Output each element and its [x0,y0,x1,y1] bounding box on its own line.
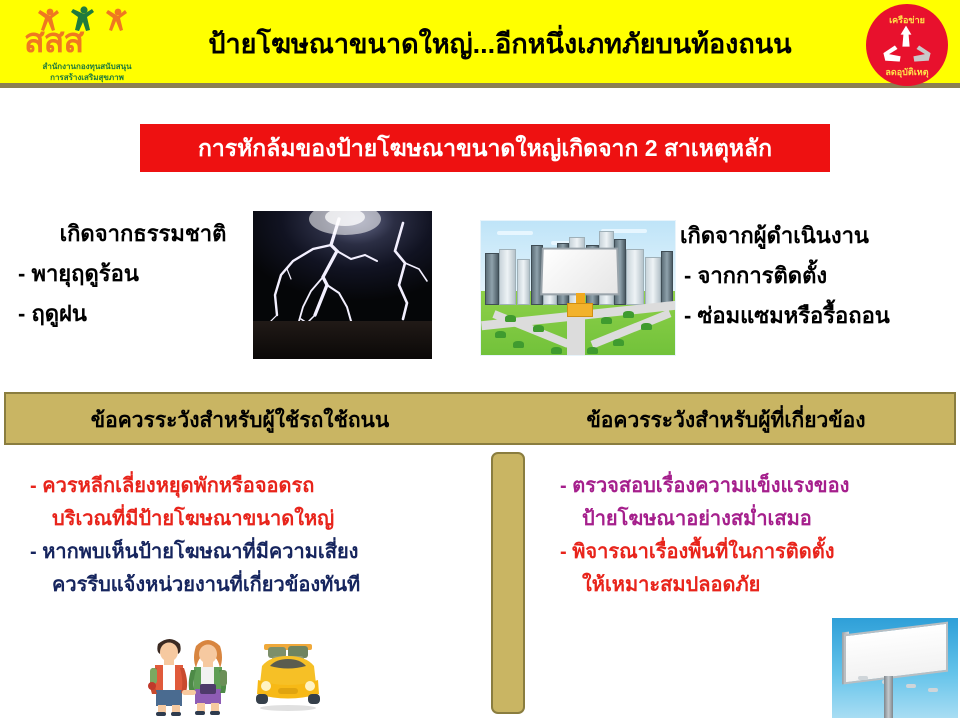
badge-bottom-label: ลดอุบัติเหตุ [868,65,946,79]
bush-shape [505,315,516,322]
lightning-storm-photo [253,211,432,359]
building-shape [626,249,644,305]
building-shape [645,257,661,305]
natural-cause-block: เกิดจากธรรมชาติ - พายุฤดูร้อน - ฤดูฝน [16,214,256,334]
billboard-lamp-icon [928,688,938,692]
advice-line: - พิจารณาเรื่องพื้นที่ในการติดตั้ง [560,536,945,569]
operator-cause-block: เกิดจากผู้ดำเนินงาน - จากการติดตั้ง - ซ่… [676,216,948,336]
natural-cause-item-2: - ฤดูฝน [16,294,256,334]
main-cause-banner-text: การหักล้มของป้ายโฆษณาขนาดใหญ่เกิดจาก 2 ส… [140,124,830,172]
bush-shape [613,339,624,346]
bush-shape [533,325,544,332]
logo-subtitle-line2: การสร้างเสริมสุขภาพ [26,73,148,83]
billboard-lamp-icon [906,684,916,688]
header-bar: สสส สำนักงานกองทุนสนับสนุน การสร้างเสริม… [0,0,960,88]
billboard-base [567,303,593,317]
advice-header-stakeholders: ข้อควรระวังสำหรับผู้ที่เกี่ยวข้อง [506,394,946,447]
natural-cause-item-1: - พายุฤดูร้อน [16,254,256,294]
billboard-lamp-icon [858,676,868,680]
logo-subtitle-line1: สำนักงานกองทุนสนับสนุน [26,62,148,72]
natural-cause-heading: เกิดจากธรรมชาติ [16,214,256,254]
lightning-horizon [253,321,432,359]
advice-column-stakeholders: - ตรวจสอบเรื่องความแข็งแรงของ ป้ายโฆษณาอ… [560,470,945,602]
advice-header-bar: ข้อควรระวังสำหรับผู้ใช้รถใช้ถนน ข้อควรระ… [4,392,956,445]
operator-cause-heading: เกิดจากผู้ดำเนินงาน [676,216,948,256]
page-title: ป้ายโฆษณาขนาดใหญ่...อีกหนึ่งเภทภัยบนท้อง… [155,16,845,72]
bush-shape [641,323,652,330]
bush-shape [587,347,598,354]
bush-shape [623,311,634,318]
bush-shape [601,317,612,324]
city-billboard-illustration [480,220,676,356]
operator-cause-item-2: - ซ่อมแซมหรือรื้อถอน [676,296,948,336]
advice-line: - หากพบเห็นป้ายโฆษณาที่มีความเสี่ยง [30,536,480,569]
yellow-car-with-luggage-icon [248,640,328,712]
slide-root: สสส สำนักงานกองทุนสนับสนุน การสร้างเสริม… [0,0,960,720]
billboard-white-face [844,622,948,685]
thaihealth-logo: สสส สำนักงานกองทุนสนับสนุน การสร้างเสริม… [18,4,148,86]
building-shape [661,251,673,305]
blank-billboard-photo [832,618,958,718]
billboard-face [540,248,620,296]
bush-shape [513,341,524,348]
advice-line: ป้ายโฆษณาอย่างสม่ำเสมอ [560,503,945,536]
cloud-shape [497,231,533,235]
bush-shape [551,347,562,354]
advice-column-road-users: - ควรหลีกเลี่ยงหยุดพักหรือจอดรถ บริเวณที… [30,470,480,602]
travellers-couple-icon [128,630,248,716]
operator-cause-item-1: - จากการติดตั้ง [676,256,948,296]
advice-line: - ควรหลีกเลี่ยงหยุดพักหรือจอดรถ [30,470,480,503]
bush-shape [495,331,506,338]
building-shape [499,249,516,305]
billboard-support-post [884,676,893,718]
advice-line: ควรรีบแจ้งหน่วยงานที่เกี่ยวข้องทันที [30,569,480,602]
vertical-divider [491,452,525,714]
logo-mark-text: สสส [24,24,144,58]
main-cause-banner: การหักล้มของป้ายโฆษณาขนาดใหญ่เกิดจาก 2 ส… [140,124,830,172]
advice-line: บริเวณที่มีป้ายโฆษณาขนาดใหญ่ [30,503,480,536]
building-shape [517,259,530,305]
hands-icon [879,23,935,67]
building-shape [485,253,499,305]
advice-line: ให้เหมาะสมปลอดภัย [560,569,945,602]
advice-line: - ตรวจสอบเรื่องความแข็งแรงของ [560,470,945,503]
advice-header-road-users: ข้อควรระวังสำหรับผู้ใช้รถใช้ถนน [20,394,460,447]
road-safety-network-badge: เครือข่าย ลดอุบัติเหตุ [868,6,946,84]
